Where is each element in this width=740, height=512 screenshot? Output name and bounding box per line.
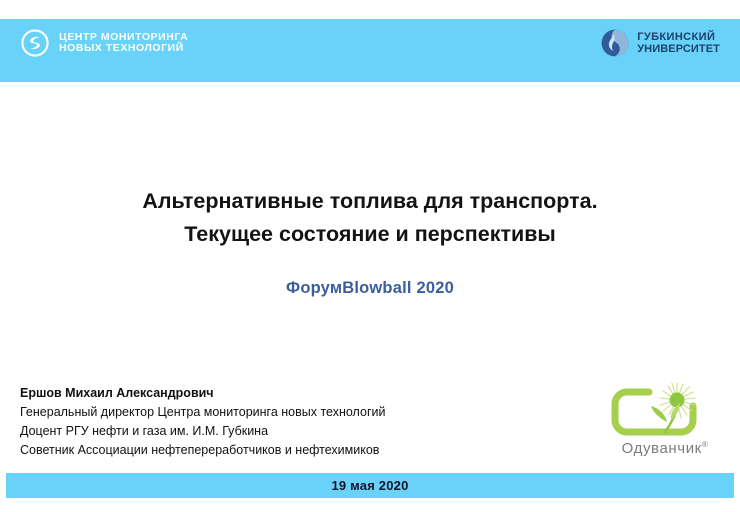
oduvanchik-wordmark: Одуванчик®	[600, 440, 730, 457]
oduvanchik-trademark: ®	[702, 440, 709, 449]
gubkin-flame-circle-icon	[600, 28, 630, 58]
cmnt-logo-line2: НОВЫХ ТЕХНОЛОГИЙ	[59, 43, 188, 54]
presentation-title-slide: ЦЕНТР МОНИТОРИНГА НОВЫХ ТЕХНОЛОГИЙ ГУБКИ…	[0, 0, 740, 512]
author-name: Ершов Михаил Александрович	[20, 384, 385, 403]
gubkin-logo-line1: ГУБКИНСКИЙ	[637, 31, 720, 43]
gubkin-logo-text: ГУБКИНСКИЙ УНИВЕРСИТЕТ	[637, 31, 720, 55]
center-monitoring-logo: ЦЕНТР МОНИТОРИНГА НОВЫХ ТЕХНОЛОГИЙ	[20, 28, 188, 58]
gubkin-logo-line2: УНИВЕРСИТЕТ	[637, 43, 720, 55]
page-subtitle: ФорумBlowball 2020	[0, 279, 740, 298]
author-role-3: Советник Ассоциации нефтепереработчиков …	[20, 441, 385, 460]
author-role-2: Доцент РГУ нефти и газа им. И.М. Губкина	[20, 422, 385, 441]
footer-bar: 19 мая 2020	[6, 473, 734, 498]
oduvanchik-name: Одуванчик	[622, 440, 702, 457]
cmnt-logo-text: ЦЕНТР МОНИТОРИНГА НОВЫХ ТЕХНОЛОГИЙ	[59, 32, 188, 55]
page-title: Альтернативные топлива для транспорта. Т…	[0, 185, 740, 251]
dandelion-icon	[605, 382, 725, 442]
gubkin-university-logo: ГУБКИНСКИЙ УНИВЕРСИТЕТ	[600, 28, 720, 58]
author-block: Ершов Михаил Александрович Генеральный д…	[20, 384, 385, 460]
author-role-1: Генеральный директор Центра мониторинга …	[20, 403, 385, 422]
page-title-line1: Альтернативные топлива для транспорта.	[0, 185, 740, 218]
page-title-line2: Текущее состояние и перспективы	[0, 218, 740, 251]
oduvanchik-logo: Одуванчик®	[600, 382, 730, 467]
cmnt-swirl-icon	[20, 28, 50, 58]
footer-date: 19 мая 2020	[331, 478, 408, 493]
